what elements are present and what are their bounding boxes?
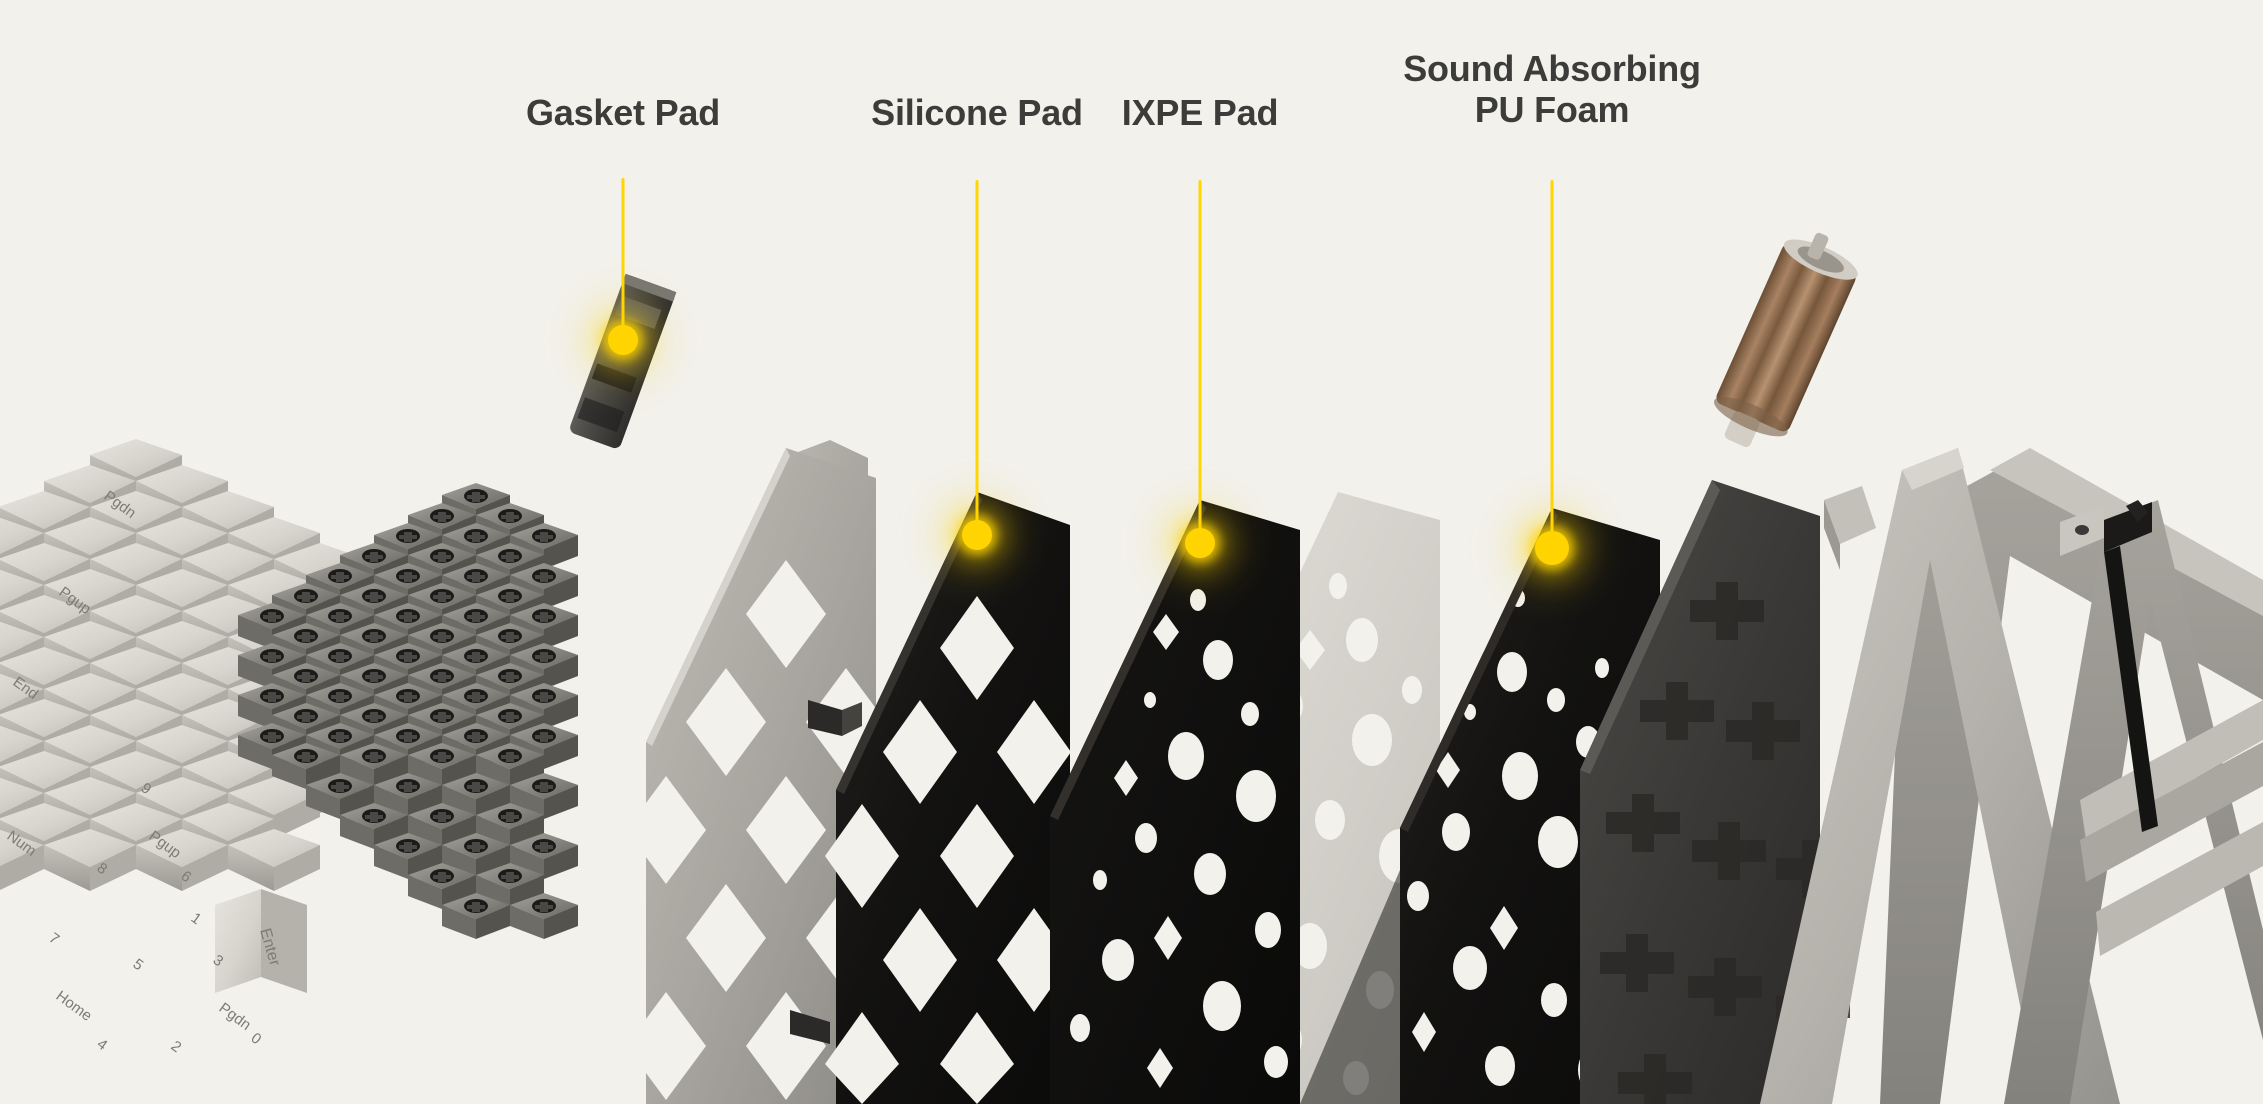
callout-label-ixpe-pad: IXPE Pad: [1122, 92, 1278, 133]
callout-line-sound-absorbing-pu-foam: [1551, 180, 1554, 548]
callout-line-ixpe-pad: [1199, 180, 1202, 543]
callout-dot-gasket-pad[interactable]: [608, 325, 638, 355]
keyboard-exploded-scene: Pgdn Pgup End Num 7 Home 8 9 Pgup 4 5 6 …: [0, 0, 2263, 1104]
callout-label-gasket-pad: Gasket Pad: [526, 92, 720, 133]
callout-dot-ixpe-pad[interactable]: [1185, 528, 1215, 558]
callout-line-silicone-pad: [976, 180, 979, 535]
callout-dot-silicone-pad[interactable]: [962, 520, 992, 550]
exploded-view-diagram: Pgdn Pgup End Num 7 Home 8 9 Pgup 4 5 6 …: [0, 0, 2263, 1104]
callout-label-silicone-pad: Silicone Pad: [871, 92, 1083, 133]
callout-line-gasket-pad: [622, 178, 625, 340]
callout-dot-sound-absorbing-pu-foam[interactable]: [1535, 531, 1569, 565]
callout-label-sound-absorbing-pu-foam: Sound Absorbing PU Foam: [1403, 48, 1701, 130]
